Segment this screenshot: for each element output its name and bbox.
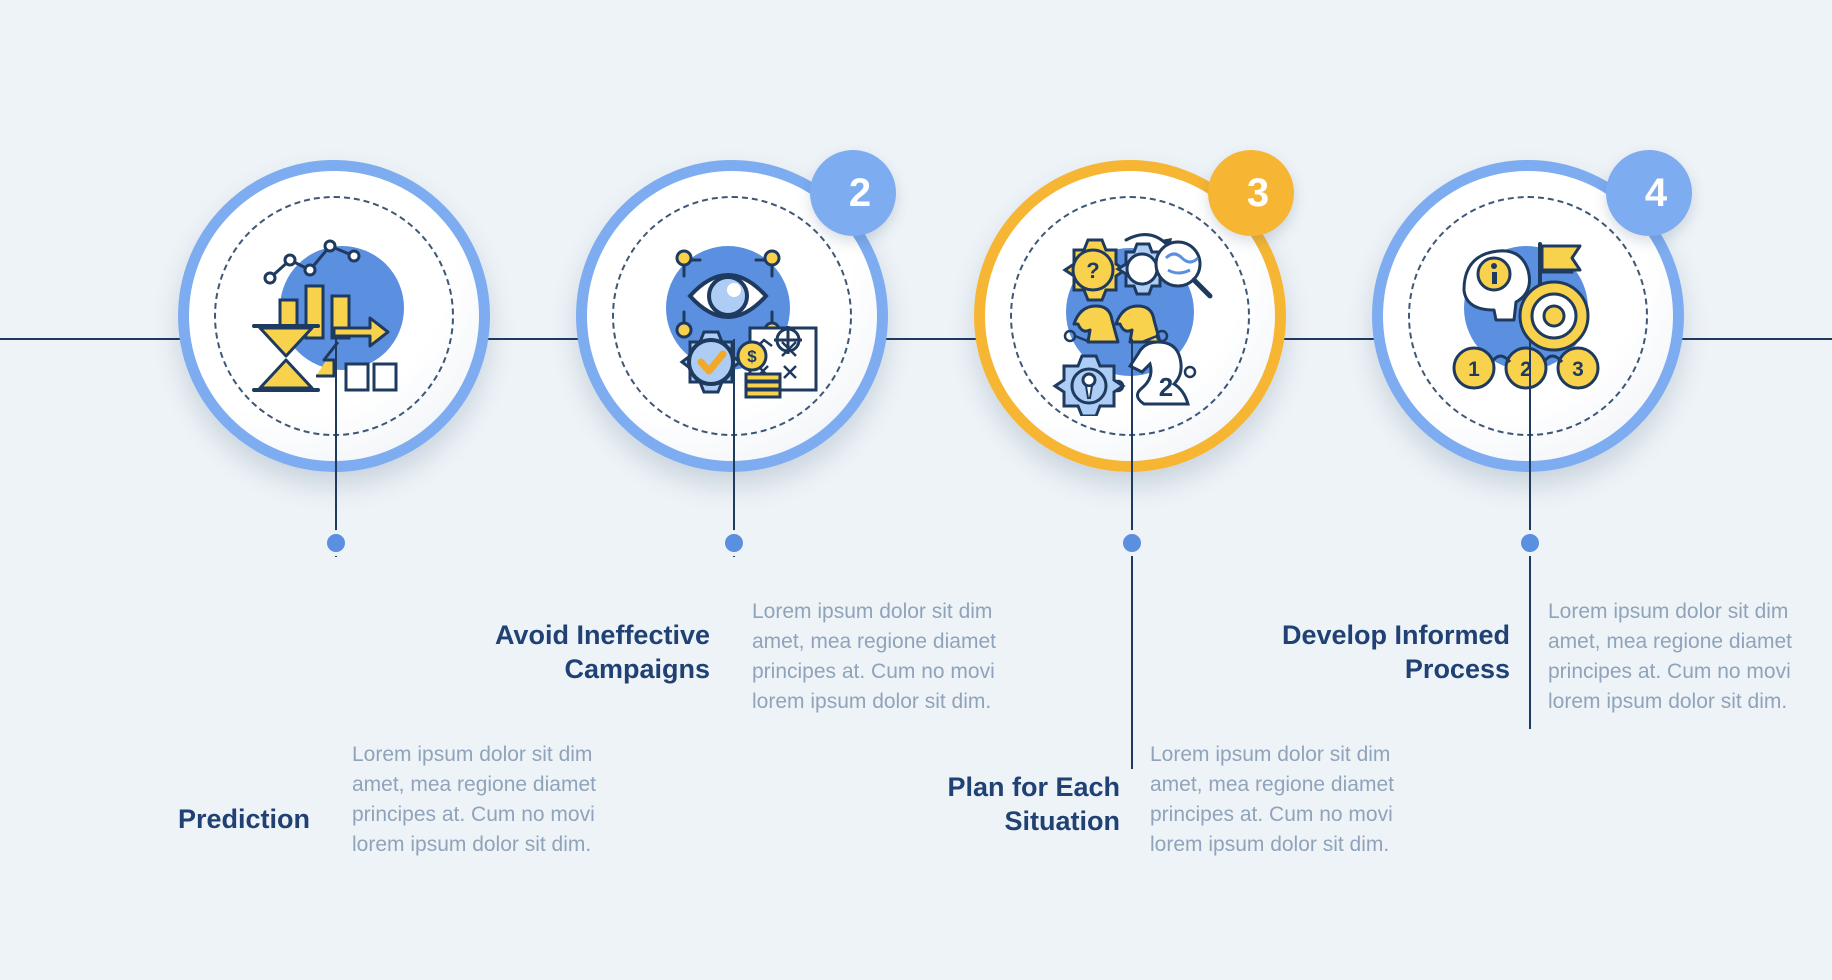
step-description-4: Lorem ipsum dolor sit dim amet, mea regi… — [1548, 597, 1816, 717]
timeline-dot-3[interactable] — [1119, 530, 1145, 556]
step-description-3: Lorem ipsum dolor sit dim amet, mea regi… — [1150, 740, 1418, 860]
timeline-dot-1[interactable] — [323, 530, 349, 556]
step-title-4: Develop Informed Process — [1200, 618, 1510, 686]
step-node-4[interactable]: 4 — [1372, 160, 1684, 472]
infographic-canvas: 1 — [0, 0, 1832, 980]
svg-text:$: $ — [747, 347, 757, 366]
svg-text:3: 3 — [1572, 358, 1584, 381]
step-node-3[interactable]: 3 ? — [974, 160, 1286, 472]
step-description-2: Lorem ipsum dolor sit dim amet, mea regi… — [752, 597, 1020, 717]
svg-text:2: 2 — [1159, 372, 1173, 402]
connector-line-1 — [335, 339, 337, 557]
timeline-dot-4[interactable] — [1517, 530, 1543, 556]
eye-gear-money-icon: $ — [632, 216, 832, 416]
step-title-3: Plan for Each Situation — [830, 770, 1120, 838]
step-node-2[interactable]: 2 — [576, 160, 888, 472]
timeline-dot-2[interactable] — [721, 530, 747, 556]
connector-line-2 — [733, 339, 735, 557]
step-node-1[interactable]: 1 — [178, 160, 490, 472]
svg-text:1: 1 — [1468, 358, 1480, 381]
chart-arrows-icon — [234, 216, 434, 416]
svg-text:?: ? — [1086, 258, 1099, 283]
strategy-chess-icon: ? — [1030, 216, 1230, 416]
step-description-1: Lorem ipsum dolor sit dim amet, mea regi… — [352, 740, 620, 860]
target-flag-steps-icon: 1 2 3 — [1428, 216, 1628, 416]
step-title-2: Avoid Ineffective Campaigns — [420, 618, 710, 686]
step-title-1: Prediction — [70, 802, 310, 836]
